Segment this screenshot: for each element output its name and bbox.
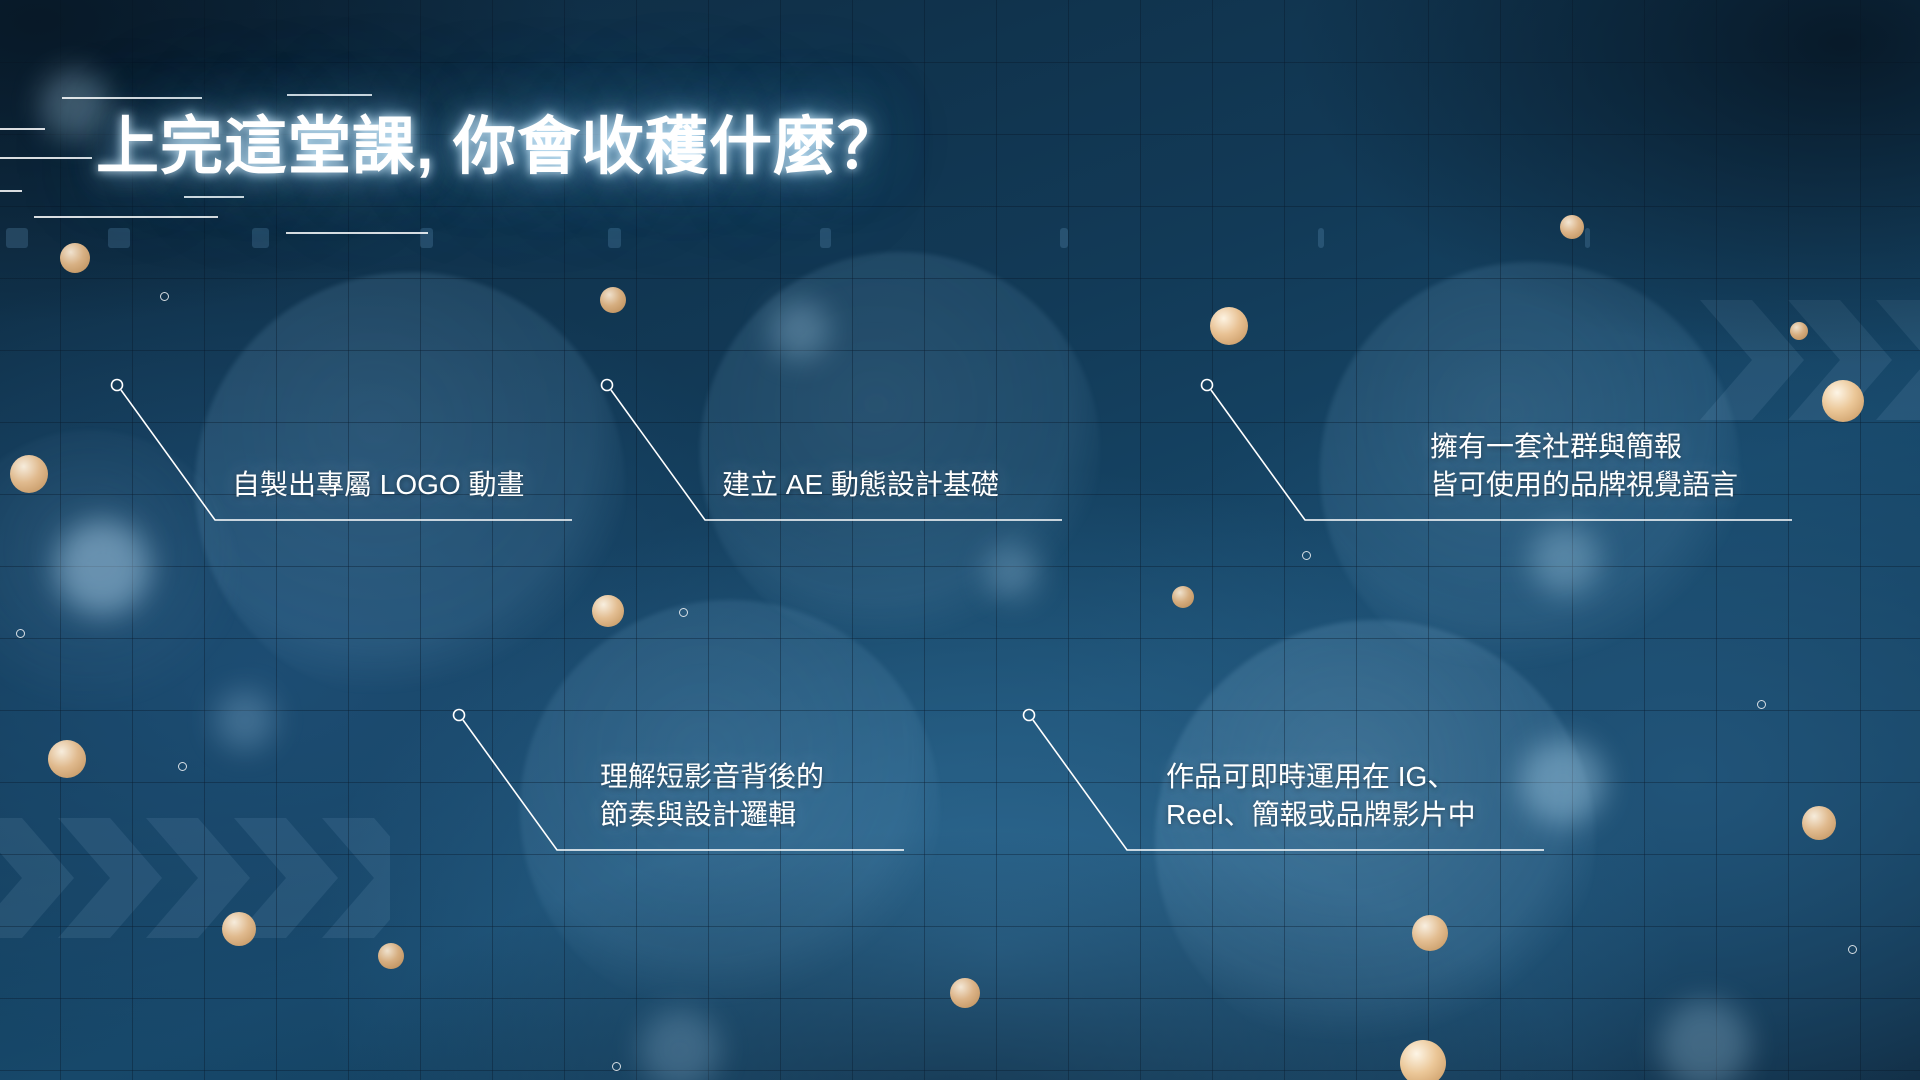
ring-dot [1302, 551, 1311, 560]
dash-mark [608, 228, 621, 248]
ring-dot [612, 1062, 621, 1071]
deco-line [0, 190, 22, 192]
dash-mark [1585, 228, 1590, 248]
deco-line [34, 216, 218, 218]
callout-ae-motion-basics: 建立 AE 動態設計基礎 [600, 378, 1060, 538]
ring-dot [1757, 700, 1766, 709]
dash-mark [1318, 228, 1324, 248]
glow-spot [1660, 1000, 1750, 1080]
callout-marker-dot [112, 380, 123, 391]
glow-spot [985, 545, 1040, 600]
callout-marker-dot [1202, 380, 1213, 391]
gold-sphere [950, 978, 980, 1008]
deco-line [0, 128, 45, 130]
gold-sphere [10, 455, 48, 493]
glow-spot [770, 300, 830, 360]
glow-spot [640, 1010, 720, 1080]
gold-sphere [1210, 307, 1248, 345]
gold-sphere [378, 943, 404, 969]
chevron-arrows-left [0, 818, 390, 938]
dash-mark [252, 228, 269, 248]
ring-dot [178, 762, 187, 771]
dash-mark [1060, 228, 1068, 248]
callout-label: 作品可即時運用在 IG、 Reel、簡報或品牌影片中 [1166, 758, 1476, 834]
gold-sphere [1560, 215, 1584, 239]
deco-line [0, 157, 92, 159]
gold-sphere [1412, 915, 1448, 951]
page-title: 上完這堂課, 你會收穫什麼？ [96, 96, 901, 187]
deco-line [286, 232, 428, 234]
callout-marker-dot [454, 710, 465, 721]
dash-mark [820, 228, 831, 248]
callout-apply-ig-reel: 作品可即時運用在 IG、 Reel、簡報或品牌影片中 [1022, 708, 1542, 868]
dash-mark [420, 228, 433, 248]
gold-sphere [592, 595, 624, 627]
callout-label: 自製出專屬 LOGO 動畫 [232, 466, 524, 504]
callout-label: 理解短影音背後的 節奏與設計邏輯 [600, 758, 824, 834]
gold-sphere [600, 287, 626, 313]
callout-logo-animation: 自製出專屬 LOGO 動畫 [110, 378, 570, 538]
ring-dot [16, 629, 25, 638]
gold-sphere [60, 243, 90, 273]
callout-label: 擁有一套社群與簡報 皆可使用的品牌視覺語言 [1430, 428, 1738, 504]
callout-brand-visual-language: 擁有一套社群與簡報 皆可使用的品牌視覺語言 [1200, 378, 1790, 538]
ring-dot [1848, 945, 1857, 954]
deco-line [184, 196, 244, 198]
callout-marker-dot [602, 380, 613, 391]
gold-sphere [1400, 1040, 1446, 1080]
callout-short-video-rhythm: 理解短影音背後的 節奏與設計邏輯 [452, 708, 912, 868]
dash-mark [6, 228, 28, 248]
ring-dot [160, 292, 169, 301]
callout-marker-dot [1024, 710, 1035, 721]
ring-dot [679, 608, 688, 617]
slide-canvas: 上完這堂課, 你會收穫什麼？ 自製出專屬 LOGO 動畫 建立 AE 動態設計基… [0, 0, 1920, 1080]
dash-mark [108, 228, 130, 248]
callout-label: 建立 AE 動態設計基礎 [722, 466, 999, 504]
gold-sphere [1172, 586, 1194, 608]
gold-sphere [1802, 806, 1836, 840]
glow-spot [215, 690, 275, 750]
gold-sphere [48, 740, 86, 778]
